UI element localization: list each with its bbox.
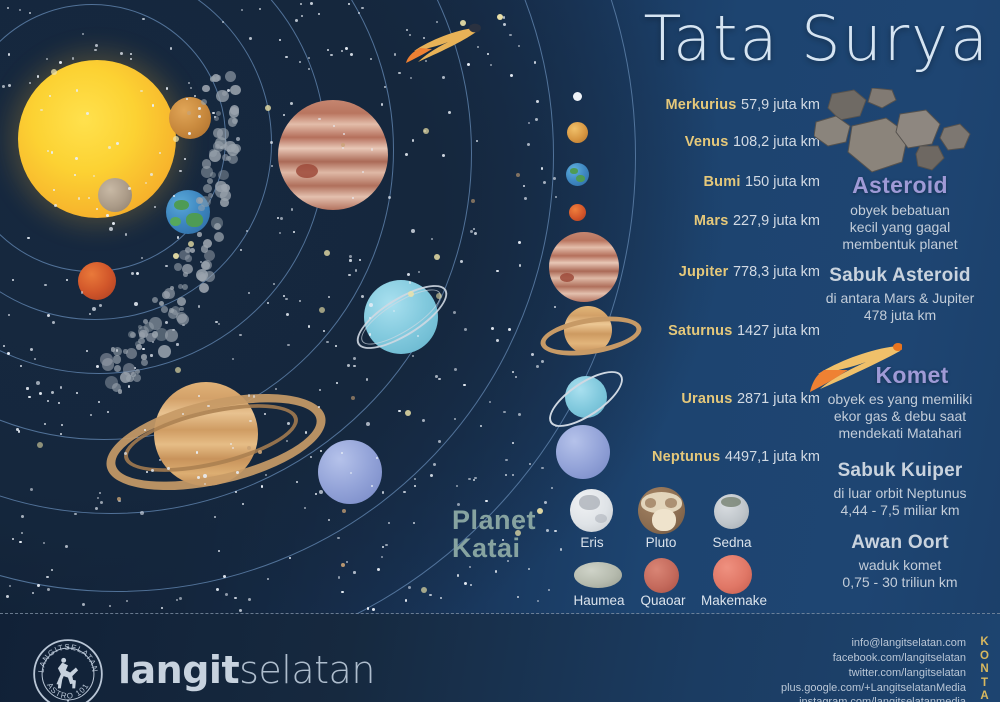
- star: [248, 292, 250, 294]
- star: [236, 137, 240, 141]
- star: [6, 595, 9, 598]
- star: [505, 459, 507, 461]
- komet-block: Komet obyek es yang memiliki ekor gas & …: [800, 362, 1000, 442]
- jupiter-icon: [549, 232, 619, 302]
- star: [187, 111, 191, 115]
- star: [463, 384, 465, 386]
- star: [8, 314, 10, 316]
- star: [128, 385, 130, 387]
- star: [343, 133, 345, 135]
- asteroid-belt-rock: [133, 374, 141, 382]
- star: [519, 264, 521, 266]
- planet-distance: 108,2 juta km: [733, 134, 820, 150]
- planet-row: Merkurius 57,9 juta km: [665, 96, 820, 114]
- star: [454, 418, 456, 420]
- brand-thin: selatan: [239, 648, 375, 692]
- contact-facebook[interactable]: facebook.com/langitselatan: [781, 651, 966, 666]
- star: [381, 103, 383, 105]
- footer-divider: [0, 613, 1000, 614]
- star: [398, 410, 400, 412]
- star: [177, 236, 179, 238]
- asteroid-belt-rock: [141, 354, 146, 359]
- star: [474, 477, 476, 479]
- star: [170, 47, 172, 49]
- asteroid-belt-rock: [190, 248, 195, 253]
- asteroid-belt-rock: [202, 85, 209, 92]
- dwarf-title-line2: Katai: [452, 534, 572, 562]
- star: [346, 561, 348, 563]
- star: [165, 321, 168, 324]
- star: [234, 597, 236, 599]
- star: [258, 450, 262, 454]
- svg-text:ASTRO 101: ASTRO 101: [45, 681, 91, 701]
- star: [40, 109, 42, 111]
- star: [289, 557, 291, 559]
- star: [323, 330, 325, 332]
- star: [460, 260, 463, 263]
- star: [491, 327, 494, 330]
- star: [179, 170, 181, 172]
- sedna-label: Sedna: [700, 535, 764, 550]
- star: [142, 348, 144, 350]
- asteroid-belt-rock: [214, 116, 219, 121]
- star: [12, 279, 14, 281]
- star: [145, 182, 147, 184]
- sun: [18, 60, 176, 218]
- star: [273, 283, 275, 285]
- star: [125, 233, 127, 235]
- sabuk-asteroid-block: Sabuk Asteroid di antara Mars & Jupiter …: [800, 265, 1000, 324]
- brand-wordmark: langitselatan: [118, 648, 375, 692]
- star: [261, 485, 263, 487]
- kontak-letter: N: [976, 663, 994, 677]
- star: [474, 232, 477, 235]
- star: [367, 607, 369, 609]
- asteroid-belt-rock: [136, 344, 142, 350]
- star: [348, 274, 350, 276]
- star: [8, 53, 10, 55]
- star: [36, 381, 40, 385]
- planet-row: Neptunus 4497,1 juta km: [652, 448, 820, 466]
- star: [54, 204, 57, 207]
- planet-name: Saturnus: [668, 323, 732, 339]
- awan-oort-heading: Awan Oort: [800, 532, 1000, 554]
- asteroid-belt-rock: [143, 319, 148, 324]
- star: [490, 64, 492, 66]
- star: [28, 396, 30, 398]
- star: [198, 305, 200, 307]
- star: [509, 34, 511, 36]
- star: [361, 295, 364, 298]
- infographic-poster: Tata Surya Merkurius 57,9 juta km Venus: [0, 0, 1000, 702]
- star: [20, 365, 22, 367]
- contact-email[interactable]: info@langitselatan.com: [781, 636, 966, 651]
- star: [355, 269, 357, 271]
- asteroid-belt-rock: [220, 190, 231, 201]
- asteroid-belt-rock: [201, 166, 213, 178]
- star: [19, 541, 21, 543]
- planet-name: Venus: [685, 134, 729, 150]
- star: [165, 265, 167, 267]
- star: [477, 46, 479, 48]
- star: [421, 587, 427, 593]
- planet-jupiter-illustration: [278, 100, 388, 210]
- star: [433, 463, 436, 466]
- contact-list: info@langitselatan.com facebook.com/lang…: [781, 636, 966, 702]
- sabuk-asteroid-body: di antara Mars & Jupiter 478 juta km: [800, 290, 1000, 324]
- kontak-letter: K: [976, 636, 994, 650]
- star: [353, 365, 355, 367]
- star: [142, 18, 144, 20]
- asteroid-cluster-icon: [814, 88, 992, 176]
- star: [489, 401, 491, 403]
- star: [464, 582, 467, 585]
- star: [422, 419, 425, 422]
- awan-oort-block: Awan Oort waduk komet 0,75 - 30 triliun …: [800, 532, 1000, 591]
- star: [496, 270, 498, 272]
- planet-mercury-illustration: [98, 178, 132, 212]
- star: [527, 143, 530, 146]
- asteroid-heading: Asteroid: [800, 172, 1000, 199]
- star: [442, 154, 445, 157]
- star: [384, 86, 386, 88]
- star: [503, 411, 505, 413]
- star: [333, 125, 335, 127]
- star: [26, 387, 28, 389]
- star: [3, 345, 5, 347]
- planet-name: Merkurius: [665, 97, 736, 113]
- star: [411, 229, 415, 233]
- star: [341, 452, 343, 454]
- asteroid-belt-rock: [113, 355, 122, 364]
- quaoar-label: Quaoar: [631, 593, 695, 608]
- star: [495, 570, 497, 572]
- star: [454, 368, 457, 371]
- star: [528, 568, 530, 570]
- star: [541, 467, 543, 469]
- asteroid-belt-rock: [201, 99, 207, 105]
- star: [518, 241, 521, 244]
- asteroid-belt-rock: [228, 117, 237, 126]
- star: [342, 509, 346, 513]
- star: [440, 597, 442, 599]
- asteroid-belt-rock: [225, 71, 236, 82]
- kontak-vertical-label: KONTAK: [976, 636, 994, 702]
- star: [86, 112, 89, 115]
- star: [473, 479, 475, 481]
- star: [351, 396, 355, 400]
- star: [296, 481, 298, 483]
- planet-distance: 1427 juta km: [737, 323, 820, 339]
- star: [353, 571, 355, 573]
- asteroid-belt-rock: [230, 85, 240, 95]
- komet-body: obyek es yang memiliki ekor gas & debu s…: [800, 391, 1000, 442]
- star: [108, 146, 111, 149]
- star: [377, 568, 380, 571]
- star: [47, 150, 49, 152]
- star: [359, 259, 361, 261]
- star: [76, 89, 78, 91]
- star: [349, 259, 351, 261]
- star: [203, 474, 207, 478]
- star: [78, 197, 80, 199]
- star: [553, 177, 556, 180]
- star: [253, 395, 255, 397]
- mars-icon: [569, 204, 586, 221]
- star: [457, 574, 459, 576]
- star: [398, 72, 400, 74]
- star: [330, 54, 332, 56]
- star: [406, 29, 408, 31]
- asteroid-belt-rock: [209, 149, 217, 157]
- star: [241, 9, 243, 11]
- asteroid-belt-rock: [214, 232, 224, 242]
- star: [534, 61, 536, 63]
- star: [319, 389, 321, 391]
- star: [372, 608, 375, 611]
- star: [518, 413, 521, 416]
- asteroid-belt-rock: [126, 375, 134, 383]
- star: [431, 238, 433, 240]
- star: [512, 442, 514, 444]
- star: [517, 596, 519, 598]
- star: [456, 485, 458, 487]
- star: [30, 488, 33, 491]
- star: [436, 293, 442, 299]
- star: [405, 410, 411, 416]
- komet-heading: Komet: [824, 362, 1000, 389]
- asteroid-belt-rock: [202, 260, 212, 270]
- kontak-letter: A: [976, 690, 994, 702]
- asteroid-belt-rock: [222, 91, 227, 96]
- star: [72, 57, 74, 59]
- star: [409, 281, 411, 283]
- star: [485, 500, 487, 502]
- star: [324, 250, 330, 256]
- asteroid-belt-rock: [111, 347, 116, 352]
- asteroid-block: Asteroid obyek bebatuan kecil yang gagal…: [800, 172, 1000, 253]
- star: [65, 545, 68, 548]
- star: [524, 197, 527, 200]
- star: [74, 513, 76, 515]
- makemake-label: Makemake: [698, 593, 770, 608]
- asteroid-belt-rock: [174, 263, 182, 271]
- star: [265, 474, 267, 476]
- star: [544, 501, 547, 504]
- star: [405, 599, 407, 601]
- star: [232, 447, 234, 449]
- footer: LANGITSELATAN ASTRO 101 langitselatan in…: [0, 614, 1000, 702]
- star: [347, 364, 350, 367]
- star: [150, 173, 153, 176]
- star: [75, 157, 78, 160]
- star: [140, 90, 142, 92]
- asteroid-belt-rock: [158, 345, 171, 358]
- star: [341, 591, 343, 593]
- star: [128, 187, 131, 190]
- asteroid-belt-rock: [228, 154, 238, 164]
- star: [89, 313, 91, 315]
- star: [109, 227, 113, 231]
- asteroid-belt-rock: [218, 170, 228, 180]
- star: [287, 344, 289, 346]
- contact-twitter[interactable]: twitter.com/langitselatan: [781, 666, 966, 681]
- star: [341, 143, 345, 147]
- star: [236, 471, 239, 474]
- kontak-letter: O: [976, 650, 994, 664]
- star: [407, 273, 410, 276]
- star: [19, 9, 21, 11]
- asteroid-belt-rock: [179, 307, 183, 311]
- star: [159, 152, 161, 154]
- planet-row: Jupiter 778,3 juta km: [679, 263, 820, 281]
- star: [326, 341, 328, 343]
- earth-icon: [566, 163, 589, 186]
- star: [117, 497, 121, 501]
- planet-name: Neptunus: [652, 449, 720, 465]
- star: [8, 84, 11, 87]
- uranus-icon: [543, 368, 625, 424]
- star: [434, 254, 440, 260]
- star: [301, 15, 303, 17]
- asteroid-belt-rock: [155, 328, 168, 341]
- star: [385, 544, 387, 546]
- asteroid-belt-rock: [230, 105, 240, 115]
- star: [166, 87, 168, 89]
- star: [408, 586, 411, 589]
- makemake-icon: [713, 555, 752, 594]
- star: [362, 171, 364, 173]
- dwarf-title-line1: Planet: [452, 506, 572, 534]
- sedna-icon: [714, 494, 749, 529]
- page-title: Tata Surya: [560, 2, 990, 75]
- star: [198, 107, 201, 110]
- star: [248, 394, 250, 396]
- sabuk-asteroid-heading: Sabuk Asteroid: [800, 265, 1000, 287]
- star: [120, 52, 123, 55]
- star: [225, 593, 228, 596]
- comet-illustration: [404, 18, 484, 66]
- star: [46, 58, 48, 60]
- star: [361, 7, 363, 9]
- star: [27, 237, 29, 239]
- star: [319, 307, 325, 313]
- brand-bold: langit: [118, 648, 239, 692]
- star: [448, 111, 451, 114]
- star: [350, 53, 353, 56]
- star: [51, 391, 54, 394]
- planet-saturn-illustration: [110, 370, 310, 510]
- planet-mars-illustration: [78, 262, 116, 300]
- star: [327, 49, 329, 51]
- awan-oort-body: waduk komet 0,75 - 30 triliun km: [800, 557, 1000, 591]
- venus-icon: [567, 122, 588, 143]
- contact-googleplus[interactable]: plus.google.com/+LangitselatanMedia: [781, 681, 966, 696]
- neptune-icon: [556, 425, 610, 479]
- star: [223, 575, 226, 578]
- star: [271, 165, 273, 167]
- planet-name: Uranus: [681, 391, 732, 407]
- pluto-icon: [638, 487, 685, 534]
- star: [291, 208, 293, 210]
- star: [44, 423, 46, 425]
- star: [190, 87, 192, 89]
- quaoar-icon: [644, 558, 679, 593]
- asteroid-belt-rock: [118, 389, 122, 393]
- haumea-icon: [574, 562, 622, 588]
- star: [39, 392, 42, 395]
- star: [537, 600, 539, 602]
- dwarf-planet-title: Planet Katai: [452, 506, 572, 563]
- star: [249, 420, 251, 422]
- eris-label: Eris: [561, 535, 623, 550]
- saturn-icon: [540, 300, 632, 364]
- planet-name: Bumi: [704, 174, 741, 190]
- star: [318, 118, 320, 120]
- star: [480, 425, 482, 427]
- star: [469, 566, 471, 568]
- asteroid-belt-rock: [183, 272, 188, 277]
- sabuk-kuiper-heading: Sabuk Kuiper: [800, 460, 1000, 482]
- star: [515, 376, 517, 378]
- asteroid-belt-rock: [161, 306, 168, 313]
- pluto-label: Pluto: [630, 535, 692, 550]
- star: [345, 47, 348, 50]
- star: [536, 365, 539, 368]
- planet-name: Jupiter: [679, 264, 729, 280]
- langitselatan-logo-icon: LANGITSELATAN ASTRO 101: [32, 638, 104, 702]
- star: [341, 563, 345, 567]
- star: [503, 16, 505, 18]
- planet-uranus-illustration: [352, 268, 450, 366]
- star: [59, 61, 62, 64]
- asteroid-belt-rock: [198, 205, 204, 211]
- star: [320, 450, 322, 452]
- star: [37, 442, 43, 448]
- star: [551, 487, 553, 489]
- star: [90, 414, 92, 416]
- planet-row: Venus 108,2 juta km: [685, 133, 820, 151]
- star: [277, 217, 279, 219]
- star: [21, 532, 23, 534]
- star: [287, 422, 290, 425]
- star: [51, 569, 53, 571]
- star: [176, 343, 178, 345]
- asteroid-belt-rock: [185, 255, 191, 261]
- star: [405, 153, 408, 156]
- star: [429, 594, 431, 596]
- asteroid-body: obyek bebatuan kecil yang gagal membentu…: [800, 202, 1000, 253]
- asteroid-belt-rock: [162, 291, 170, 299]
- eris-icon: [570, 489, 613, 532]
- asteroid-belt-rock: [100, 353, 113, 366]
- star: [270, 141, 273, 144]
- star: [150, 354, 152, 356]
- sabuk-kuiper-body: di luar orbit Neptunus 4,44 - 7,5 miliar…: [800, 485, 1000, 519]
- star: [382, 546, 384, 548]
- kontak-letter: T: [976, 677, 994, 691]
- star: [371, 148, 373, 150]
- star: [196, 451, 198, 453]
- sabuk-kuiper-block: Sabuk Kuiper di luar orbit Neptunus 4,44…: [800, 460, 1000, 519]
- star: [285, 56, 287, 58]
- star: [175, 367, 181, 373]
- contact-instagram[interactable]: instagram.com/langitselatanmedia: [781, 695, 966, 702]
- star: [548, 589, 550, 591]
- asteroid-belt-rock: [130, 332, 136, 338]
- asteroid-belt-rock: [197, 232, 201, 236]
- star: [510, 74, 513, 77]
